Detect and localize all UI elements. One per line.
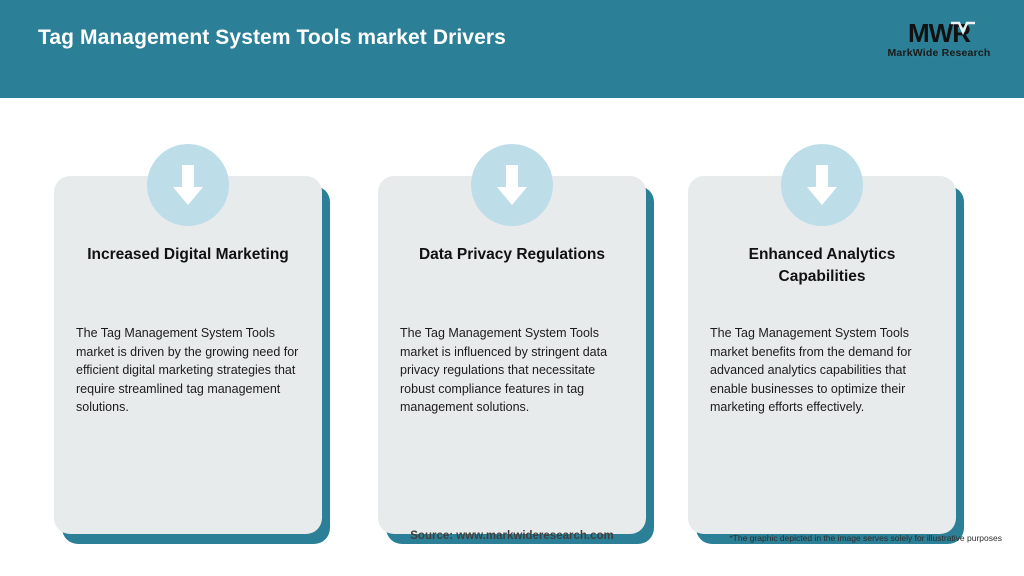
card-title: Increased Digital Marketing <box>76 244 300 266</box>
arrow-down-icon-badge <box>471 144 553 226</box>
arrow-down-icon-badge <box>147 144 229 226</box>
driver-card[interactable]: Data Privacy Regulations The Tag Managem… <box>378 176 646 534</box>
arrow-down-icon-badge <box>781 144 863 226</box>
arrow-down-icon <box>171 163 205 207</box>
card-title: Enhanced Analytics Capabilities <box>710 244 934 288</box>
driver-card[interactable]: Increased Digital Marketing The Tag Mana… <box>54 176 322 534</box>
driver-card[interactable]: Enhanced Analytics Capabilities The Tag … <box>688 176 956 534</box>
card-description: The Tag Management System Tools market b… <box>710 324 942 417</box>
card-title: Data Privacy Regulations <box>400 244 624 266</box>
drivers-card-list: Increased Digital Marketing The Tag Mana… <box>0 0 1024 576</box>
card-body: Data Privacy Regulations The Tag Managem… <box>378 176 646 534</box>
slide: Tag Management System Tools market Drive… <box>0 0 1024 576</box>
arrow-down-icon <box>805 163 839 207</box>
arrow-down-icon <box>495 163 529 207</box>
card-description: The Tag Management System Tools market i… <box>76 324 308 417</box>
disclaimer-note: *The graphic depicted in the image serve… <box>729 533 1002 543</box>
card-body: Increased Digital Marketing The Tag Mana… <box>54 176 322 534</box>
card-description: The Tag Management System Tools market i… <box>400 324 632 417</box>
card-body: Enhanced Analytics Capabilities The Tag … <box>688 176 956 534</box>
